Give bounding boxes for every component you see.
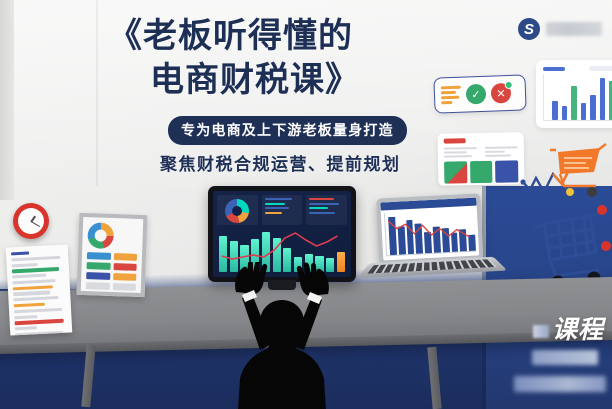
bar-card-bar	[590, 95, 596, 120]
bar-card-header	[543, 66, 612, 71]
report-paper-bar	[14, 315, 37, 319]
bar-card-bar	[562, 106, 568, 120]
orange-shopping-cart-icon	[520, 134, 612, 206]
infographic-chips-3	[86, 272, 136, 281]
report-paper-bar	[12, 274, 46, 279]
subtitle-line-2: 聚焦财税合规运营、提前规划	[160, 150, 401, 175]
laptop-screen	[380, 198, 479, 261]
bar-chart-card	[536, 60, 612, 128]
desk-infographic-paper	[77, 213, 148, 297]
dashboard-top-row	[217, 195, 347, 225]
dashboard-stats-panel	[306, 195, 347, 225]
dashboard-donut-chart	[225, 199, 249, 223]
report-paper-bar	[13, 285, 53, 290]
footer-line2-redacted	[514, 376, 606, 392]
brand-s-icon: S	[518, 18, 540, 40]
report-paper-bar	[13, 296, 58, 302]
report-paper-bars	[11, 250, 68, 336]
report-paper-bar	[12, 263, 38, 268]
badge-dot-icon	[505, 81, 513, 89]
brand-name-redacted	[546, 22, 602, 36]
infographic-donut-chart	[87, 222, 114, 249]
report-card	[438, 132, 525, 185]
course-prefix-redacted	[533, 325, 549, 338]
dashboard-list-panel	[262, 195, 303, 225]
notification-card: ✓ ✕	[433, 74, 526, 113]
close-badge-icon: ✕	[491, 83, 512, 104]
report-paper-bar	[13, 279, 56, 284]
bar-card-tag	[543, 67, 565, 71]
report-paper-bar	[14, 303, 45, 308]
report-paper-bar	[11, 251, 29, 255]
bar-card-plot	[543, 74, 612, 121]
bar-card-pill	[589, 66, 612, 71]
laptop-lid	[376, 193, 483, 264]
bar-card-bar	[600, 78, 606, 120]
person-silhouette	[212, 262, 352, 409]
report-paper-bar	[14, 308, 62, 314]
bar-card-bar	[571, 86, 577, 120]
laptop-trend-line	[385, 209, 476, 256]
brand-logo: S	[518, 18, 602, 40]
report-paper-bar	[12, 267, 59, 273]
laptop-bar-chart	[384, 209, 476, 257]
headline-block: 《老板听得懂的 电商财税课》	[0, 14, 452, 102]
close-badge-glyph: ✕	[496, 87, 506, 100]
report-card-tag	[444, 138, 466, 143]
report-paper-bar	[15, 319, 64, 325]
title-line-2: 电商财税课》	[0, 58, 452, 102]
promo-banner: 《老板听得懂的 电商财税课》 专为电商及上下游老板量身打造 聚焦财税合规运营、提…	[0, 0, 612, 409]
report-paper-bar	[11, 256, 60, 262]
bar-card-bar	[552, 101, 558, 120]
bar-card-bar	[581, 103, 587, 120]
course-label: 课程	[533, 318, 604, 343]
wall-clock-icon	[13, 203, 49, 239]
subtitle-pill: 专为电商及上下游老板量身打造	[168, 116, 407, 145]
check-badge-icon: ✓	[466, 84, 487, 105]
report-paper-bar	[15, 326, 37, 330]
report-card-text	[444, 146, 518, 157]
title-line-1: 《老板听得懂的	[0, 14, 452, 58]
course-text: 课程	[552, 318, 604, 343]
notification-text-lines	[441, 86, 462, 105]
clock-face	[18, 208, 44, 234]
infographic-chips-4	[86, 282, 136, 291]
report-card-blocks	[444, 160, 518, 183]
footer-line1-redacted	[532, 350, 598, 365]
infographic-chips-2	[86, 262, 136, 271]
desk-report-paper	[6, 244, 73, 335]
laptop-keyboard	[367, 259, 496, 273]
infographic-chips-1	[87, 252, 137, 261]
laptop-device	[376, 193, 484, 272]
dashboard-donut-panel	[217, 195, 258, 225]
report-paper-bar	[13, 291, 51, 296]
